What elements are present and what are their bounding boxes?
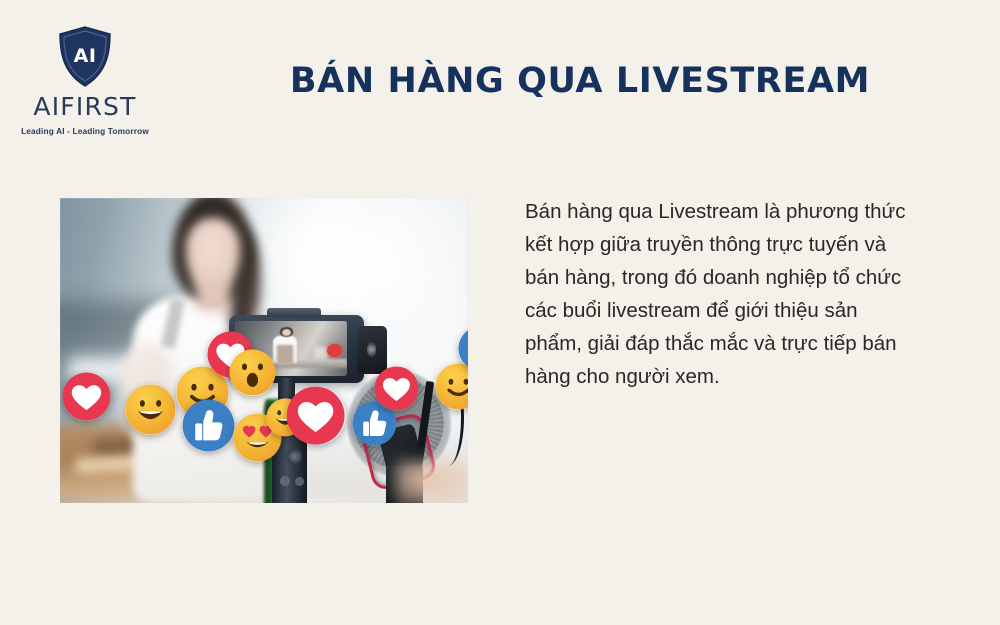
brand-tagline: Leading AI - Leading Tomorrow [21,126,149,136]
photo-hand [395,460,468,503]
shield-ai-icon: AI [57,26,113,88]
slide-canvas: AI AIFIRST Leading AI - Leading Tomorrow… [0,0,1000,625]
svg-text:AI: AI [74,45,97,67]
recording-indicator-icon [327,344,342,357]
brand-wordmark: AIFIRST [33,94,136,119]
photo-gimbal-button-1 [280,476,290,486]
brand-logo: AI AIFIRST Leading AI - Leading Tomorrow [22,26,148,136]
reaction-heart-icon [286,386,345,445]
reaction-heart-icon [62,372,111,421]
body-paragraph: Bán hàng qua Livestream là phương thức k… [525,195,920,393]
photo-woman-neck [197,280,230,311]
photo-scene [60,198,468,503]
livestream-photo [60,198,468,503]
photo-gimbal-lens [367,342,376,357]
phone-screen-person-apron [277,345,294,364]
reaction-wow-icon [229,349,276,396]
photo-phone-clamp [267,308,321,317]
reaction-heart-icon [374,366,419,411]
phone-screen-object [314,347,329,359]
photo-gimbal-joystick [287,448,302,465]
reaction-grin-icon [125,384,176,435]
phone-screen-person-face [282,329,291,336]
page-title: BÁN HÀNG QUA LIVESTREAM [200,62,960,101]
